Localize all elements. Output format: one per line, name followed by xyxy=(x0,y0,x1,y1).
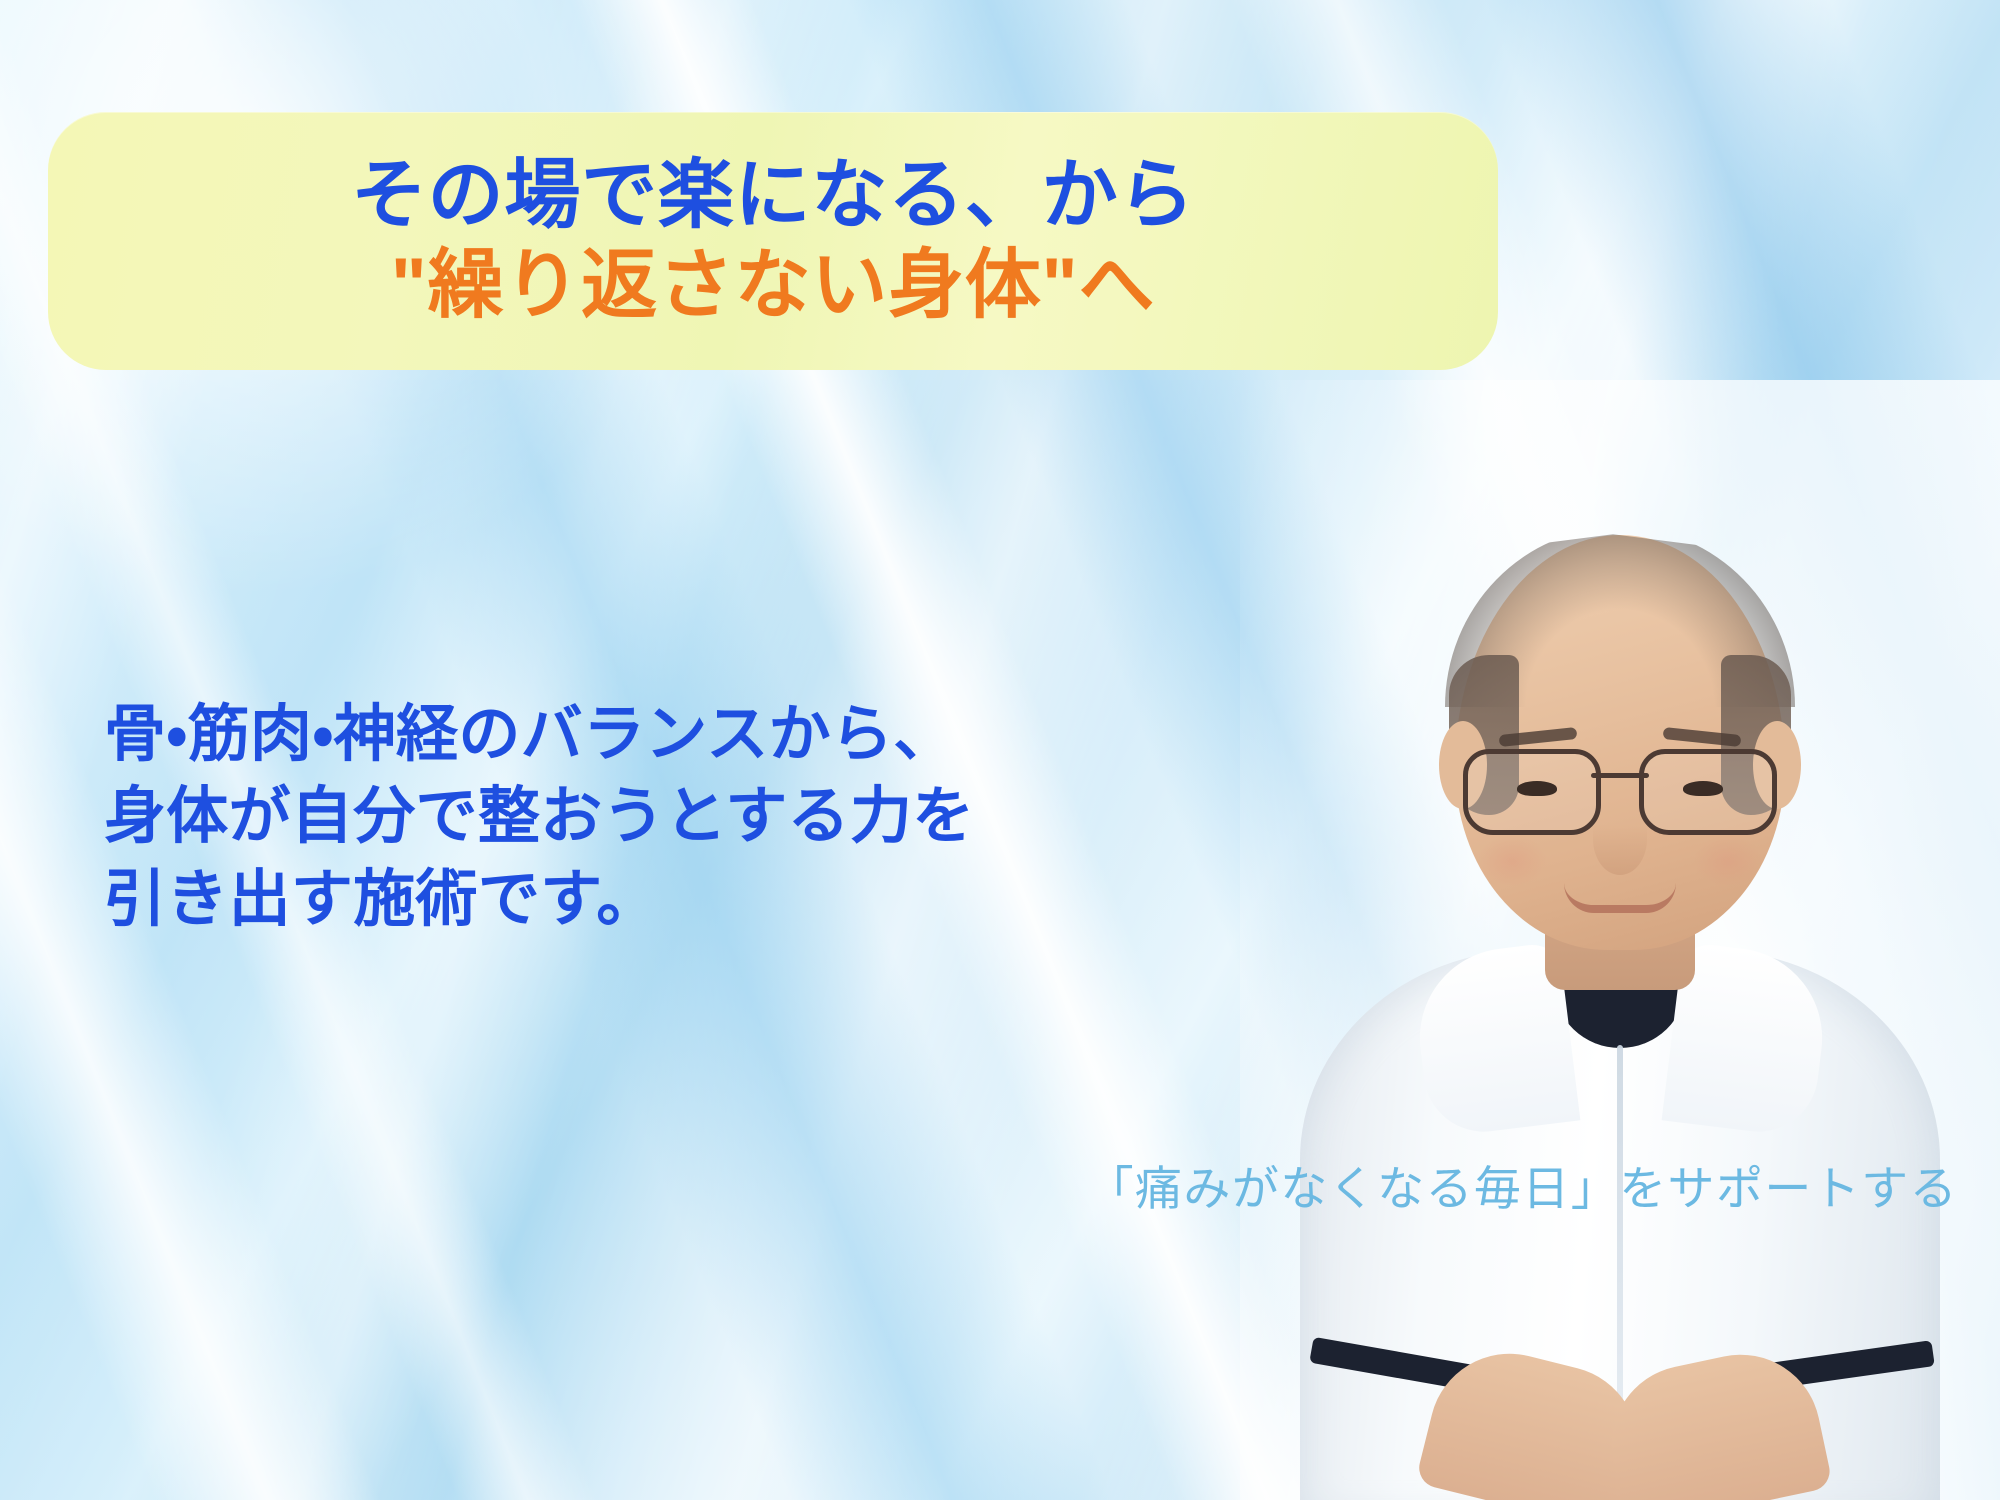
head xyxy=(1455,535,1785,950)
headline-banner: その場で楽になる、から "繰り返さない身体"へ xyxy=(48,112,1498,370)
body-line-3: 引き出す施術です。 xyxy=(104,859,1124,941)
eye-left xyxy=(1517,781,1557,796)
practitioner-photo xyxy=(1240,380,2000,1500)
eye-right xyxy=(1683,781,1723,796)
mouth-smile xyxy=(1564,883,1676,913)
body-copy: 骨・筋肉・神経のバランスから、 身体が自分で整おうとする力を 引き出す施術です。 xyxy=(104,694,1124,941)
nose xyxy=(1593,803,1647,875)
cheek-right xyxy=(1693,835,1763,887)
practitioner-figure xyxy=(1280,390,1960,1500)
support-tagline: 「痛みがなくなる毎日」をサポートする xyxy=(1087,1150,1958,1219)
promo-banner-canvas: その場で楽になる、から "繰り返さない身体"へ 骨・筋肉・神経のバランスから、 … xyxy=(0,0,2000,1500)
body-line-2: 身体が自分で整おうとする力を xyxy=(104,776,1124,858)
headline-line-2: "繰り返さない身体"へ xyxy=(391,242,1155,330)
glasses-bridge xyxy=(1591,773,1649,778)
cheek-left xyxy=(1477,835,1547,887)
uniform-torso xyxy=(1300,950,1940,1500)
headline-line-1: その場で楽になる、から xyxy=(351,152,1195,240)
body-line-1: 骨・筋肉・神経のバランスから、 xyxy=(104,694,1124,776)
